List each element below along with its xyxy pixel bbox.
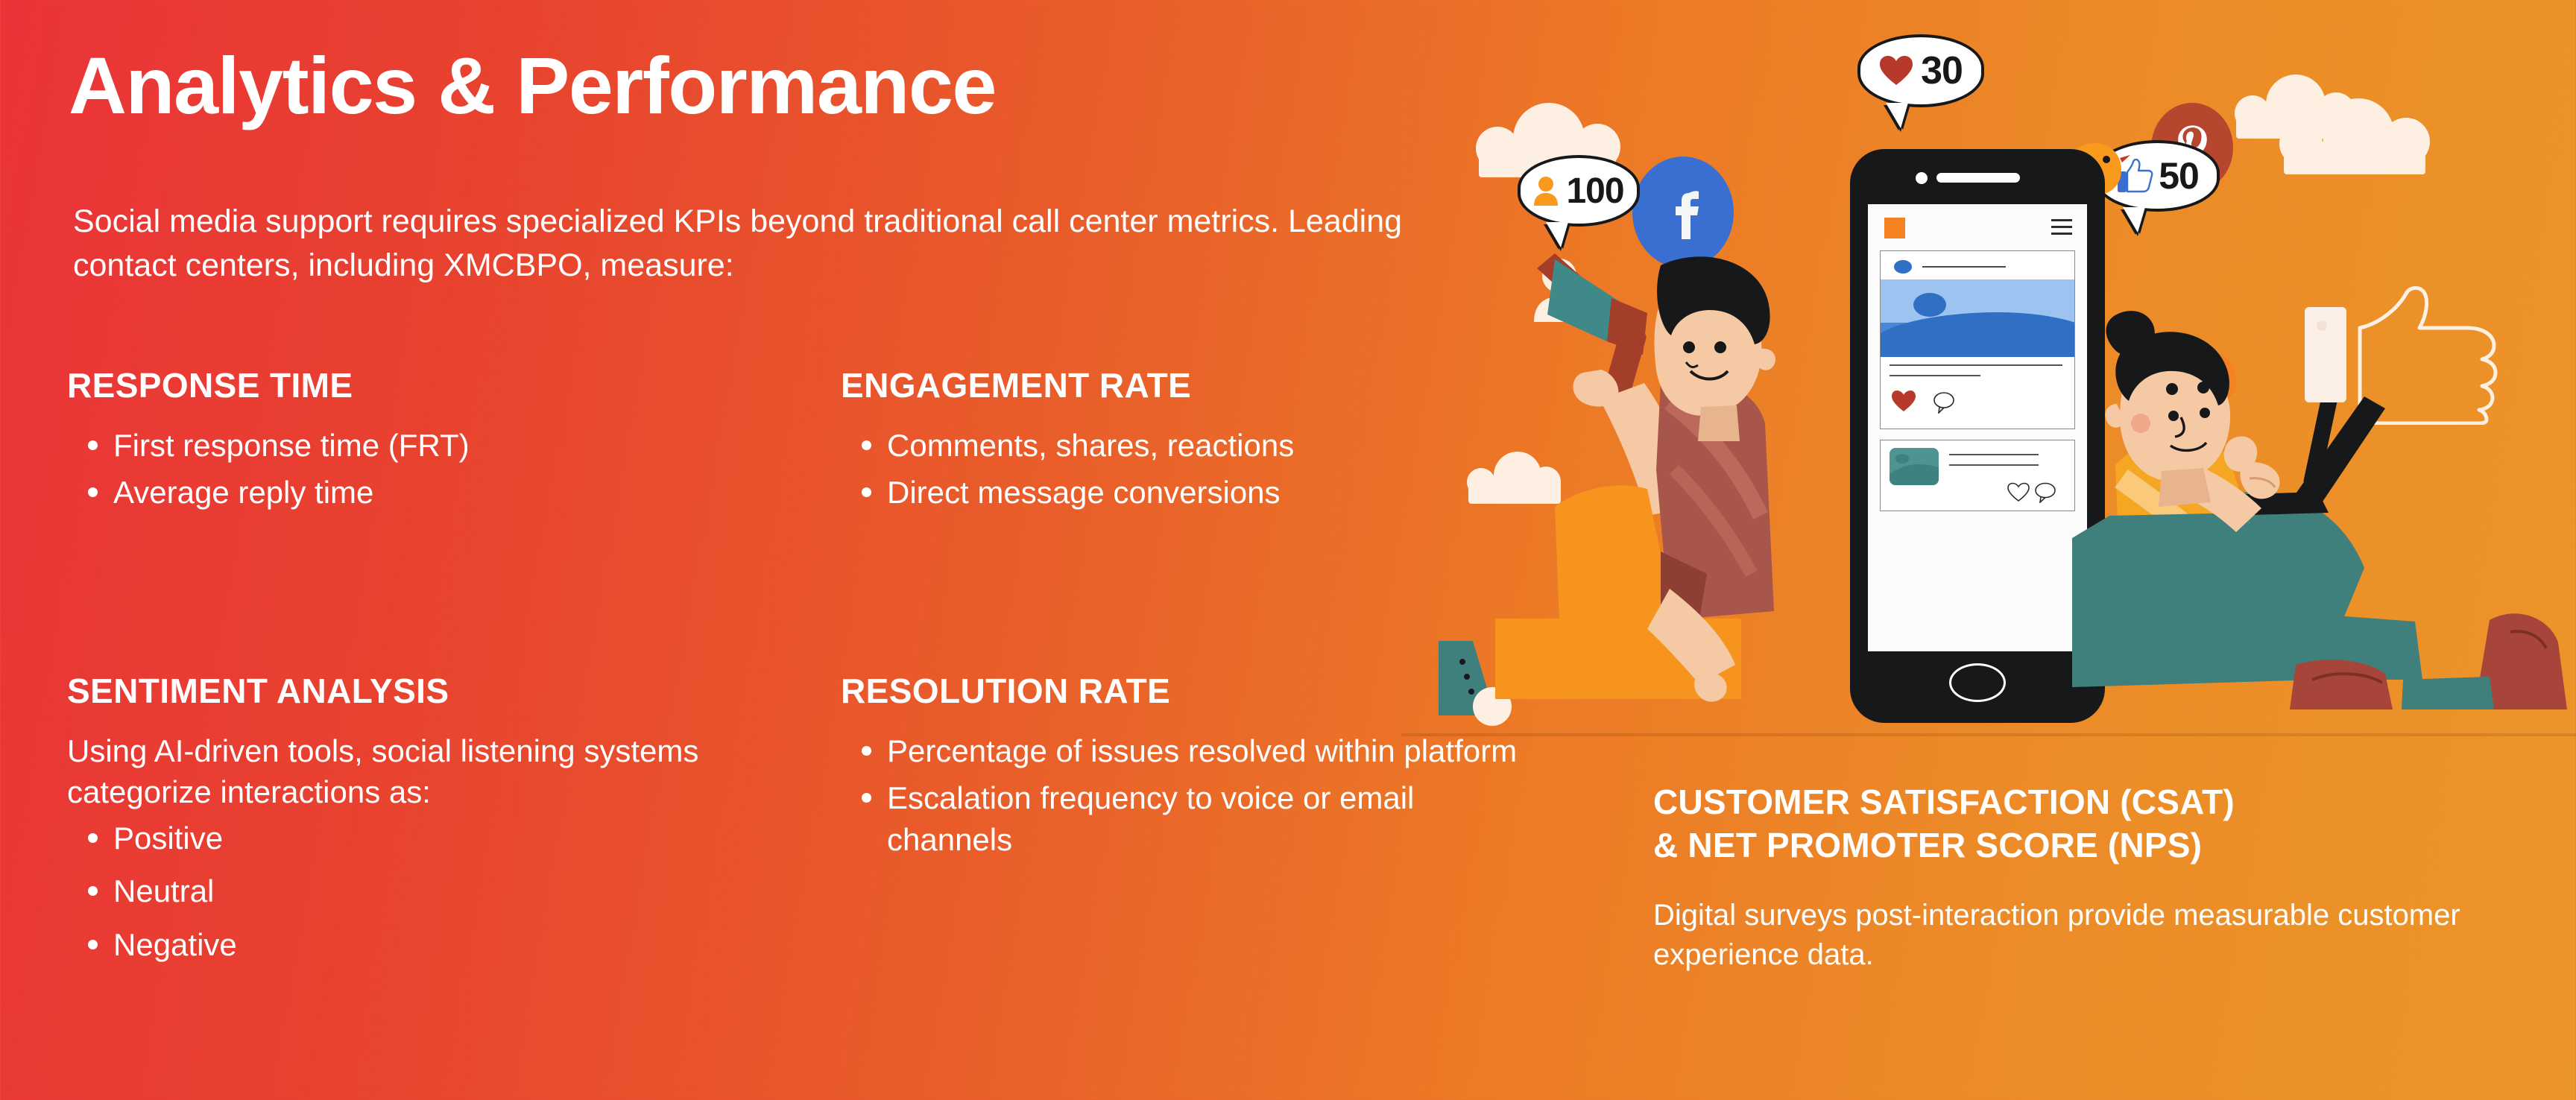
post-image <box>1881 279 2074 357</box>
csat-heading-line-1: CUSTOMER SATISFACTION (CSAT) <box>1653 781 2495 824</box>
feed-post-card[interactable] <box>1880 440 2075 511</box>
caption-line <box>1949 454 2039 455</box>
avatar <box>1894 260 1912 274</box>
hearts-count: 30 <box>1921 48 1963 93</box>
heart-icon[interactable] <box>2007 482 2030 502</box>
caption-line <box>1890 364 2062 366</box>
caption-line <box>1890 375 1980 376</box>
username-placeholder <box>1922 266 2006 268</box>
speaker-grill <box>1936 173 2020 183</box>
kpi-block-sentiment-analysis: SENTIMENT ANALYSIS Using AI-driven tools… <box>67 671 783 977</box>
smartphone-device[interactable] <box>1850 149 2105 723</box>
comment-icon[interactable] <box>1933 391 1955 414</box>
csat-heading-line-2: & NET PROMOTER SCORE (NPS) <box>1653 824 2495 867</box>
ground-line <box>1401 733 2576 736</box>
comment-icon[interactable] <box>2034 482 2056 503</box>
character-man-with-megaphone <box>1424 224 1841 760</box>
list-item: Escalation frequency to voice or email c… <box>841 777 1534 860</box>
list-item: First response time (FRT) <box>67 425 738 466</box>
camera-dot <box>1916 172 1928 184</box>
cloud-icon <box>2284 142 2425 174</box>
list-sentiment-analysis: Positive Neutral Negative <box>67 818 783 965</box>
heading-response-time: RESPONSE TIME <box>67 365 738 405</box>
likes-count: 50 <box>2159 154 2199 197</box>
heading-csat-nps: CUSTOMER SATISFACTION (CSAT) & NET PROMO… <box>1653 781 2495 867</box>
heart-icon[interactable] <box>1891 390 1916 412</box>
intro-paragraph: Social media support requires specialize… <box>73 200 1422 288</box>
app-logo-icon <box>1884 218 1905 238</box>
text-panel: Analytics & Performance Social media sup… <box>0 0 1535 1100</box>
heart-icon <box>1879 55 1913 86</box>
kpi-block-response-time: RESPONSE TIME First response time (FRT) … <box>67 365 738 519</box>
csat-body-text: Digital surveys post-interaction provide… <box>1653 896 2495 975</box>
csat-nps-block: CUSTOMER SATISFACTION (CSAT) & NET PROMO… <box>1653 781 2495 975</box>
social-media-illustration: 30 100 50 <box>1401 0 2576 783</box>
caption-line <box>1949 464 2039 466</box>
hamburger-menu-icon[interactable] <box>2051 219 2072 236</box>
post-thumbnail <box>1890 448 1939 485</box>
page-title: Analytics & Performance <box>69 43 996 127</box>
feed-post-card[interactable] <box>1880 250 2075 429</box>
list-item: Average reply time <box>67 472 738 513</box>
list-item: Negative <box>67 924 783 965</box>
list-item: Positive <box>67 818 783 859</box>
user-icon <box>1533 176 1559 206</box>
sentiment-paragraph: Using AI-driven tools, social listening … <box>67 730 783 813</box>
list-item: Neutral <box>67 870 783 911</box>
character-woman-with-laptop <box>2072 292 2576 760</box>
likes-bubble-hearts: 30 <box>1857 34 1984 107</box>
list-response-time: First response time (FRT) Average reply … <box>67 425 738 513</box>
home-button[interactable] <box>1949 663 2006 702</box>
followers-count: 100 <box>1566 171 1623 212</box>
phone-screen[interactable] <box>1868 204 2087 651</box>
heading-sentiment-analysis: SENTIMENT ANALYSIS <box>67 671 783 711</box>
followers-bubble: 100 <box>1518 155 1640 227</box>
